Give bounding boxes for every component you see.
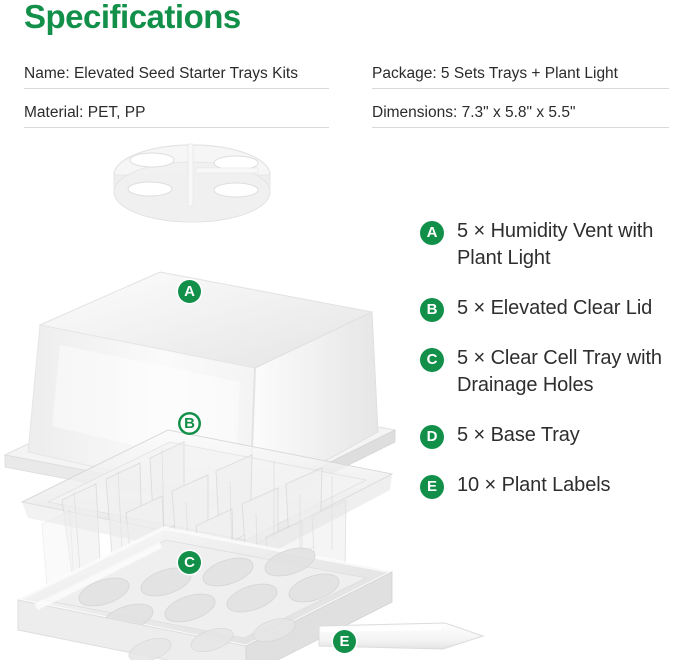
legend-badge-d: D — [420, 425, 444, 449]
page-title: Specifications — [24, 0, 241, 36]
spec-row: Material: PET, PP — [24, 97, 329, 128]
spec-name: Name: Elevated Seed Starter Trays Kits — [24, 65, 298, 83]
illustration-marker-c: C — [178, 551, 201, 574]
legend-qty-e: 10 — [457, 474, 479, 496]
legend-badge-b: B — [420, 298, 444, 322]
spec-column-left: Name: Elevated Seed Starter Trays Kits M… — [24, 58, 329, 136]
legend-times-c: × — [474, 347, 486, 369]
spec-material: Material: PET, PP — [24, 104, 145, 122]
spec-row: Dimensions: 7.3" x 5.8" x 5.5" — [372, 97, 669, 128]
illustration-marker-b: B — [178, 412, 201, 435]
legend-times-d: × — [474, 424, 486, 446]
legend-name-b: Elevated Clear Lid — [491, 297, 653, 319]
legend-times-e: × — [485, 474, 497, 496]
spec-row: Name: Elevated Seed Starter Trays Kits — [24, 58, 329, 89]
legend-name-d: Base Tray — [491, 424, 580, 446]
legend-label-c: 5 × Clear Cell Tray with Drainage Holes — [457, 345, 679, 400]
legend-badge-c: C — [420, 348, 444, 372]
legend-label-e: 10 × Plant Labels — [457, 472, 610, 499]
legend-times-a: × — [474, 220, 486, 242]
illustration-marker-e: E — [333, 630, 356, 653]
legend-item-e: E 10 × Plant Labels — [420, 472, 679, 500]
legend-list: A 5 × Humidity Vent with Plant Light B 5… — [420, 218, 679, 522]
specifications-infographic: Specifications Name: Elevated Seed Start… — [0, 0, 679, 660]
illustration-marker-a: A — [178, 280, 201, 303]
spec-package: Package: 5 Sets Trays + Plant Light — [372, 65, 618, 83]
spec-dimensions: Dimensions: 7.3" x 5.8" x 5.5" — [372, 104, 575, 122]
legend-qty-d: 5 — [457, 424, 468, 446]
legend-label-a: 5 × Humidity Vent with Plant Light — [457, 218, 679, 273]
legend-item-a: A 5 × Humidity Vent with Plant Light — [420, 218, 679, 273]
spec-row: Package: 5 Sets Trays + Plant Light — [372, 58, 669, 89]
legend-item-c: C 5 × Clear Cell Tray with Drainage Hole… — [420, 345, 679, 400]
legend-name-c: Clear Cell Tray with Drainage Holes — [457, 347, 662, 396]
product-illustration: A B C D — [0, 130, 410, 660]
legend-item-b: B 5 × Elevated Clear Lid — [420, 295, 679, 323]
legend-label-d: 5 × Base Tray — [457, 422, 580, 449]
legend-qty-b: 5 — [457, 297, 468, 319]
legend-label-b: 5 × Elevated Clear Lid — [457, 295, 652, 322]
spec-column-right: Package: 5 Sets Trays + Plant Light Dime… — [372, 58, 669, 136]
legend-name-a: Humidity Vent with Plant Light — [457, 220, 653, 269]
legend-times-b: × — [474, 297, 486, 319]
legend-qty-a: 5 — [457, 220, 468, 242]
legend-name-e: Plant Labels — [502, 474, 611, 496]
legend-badge-a: A — [420, 221, 444, 245]
legend-qty-c: 5 — [457, 347, 468, 369]
legend-item-d: D 5 × Base Tray — [420, 422, 679, 450]
humidity-vent-shape — [114, 144, 270, 222]
legend-badge-e: E — [420, 475, 444, 499]
